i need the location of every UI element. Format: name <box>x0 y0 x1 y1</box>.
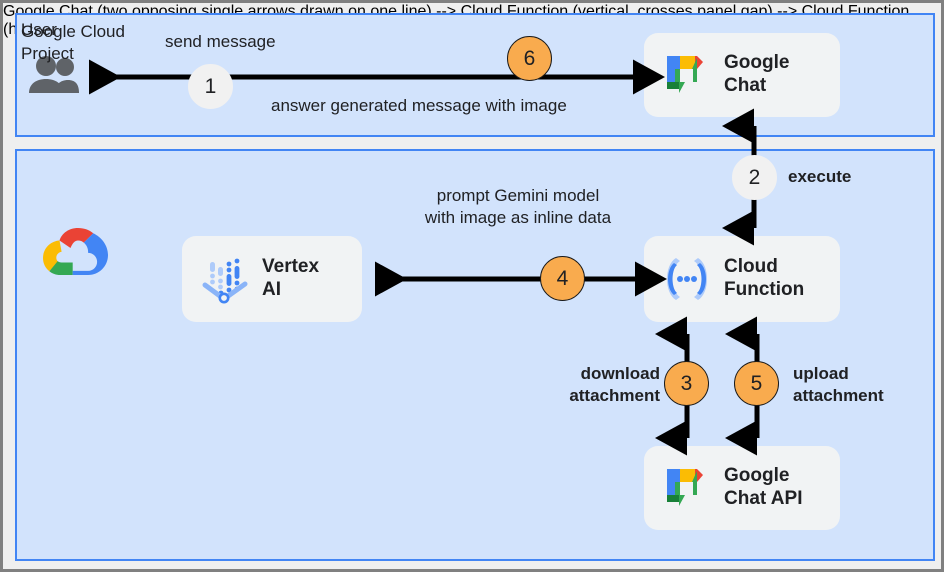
card-cloud-function-label: Cloud Function <box>724 256 804 302</box>
caption-answer-generated-message: answer generated message with image <box>271 95 567 117</box>
google-chat-logo-icon <box>660 48 714 102</box>
caption-answer-generated-message-emphasis: with image <box>486 96 567 115</box>
card-google-chat-api[interactable]: Google Chat API <box>644 446 840 530</box>
card-vertex-ai-label: Vertex AI <box>262 256 319 302</box>
caption-prompt-gemini-model-text: prompt Gemini model <box>411 185 625 207</box>
cloud-function-logo-icon <box>660 252 714 306</box>
step-badge-3: 3 <box>664 361 709 406</box>
step-badge-5: 5 <box>734 361 779 406</box>
card-cloud-function[interactable]: Cloud Function <box>644 236 840 322</box>
panel-google-cloud-project-label: Google Cloud Project <box>21 21 125 66</box>
step-badge-1: 1 <box>188 64 233 109</box>
caption-prompt-gemini-model-emphasis: with image as inline data <box>411 207 625 229</box>
caption-download-attachment: download attachment <box>528 363 660 407</box>
step-badge-2: 2 <box>732 155 777 200</box>
step-badge-4: 4 <box>540 256 585 301</box>
card-google-chat-label: Google Chat <box>724 52 789 98</box>
caption-execute: execute <box>788 166 851 188</box>
architecture-diagram: User Google Cloud Project <box>0 0 944 572</box>
step-badge-6: 6 <box>507 36 552 81</box>
caption-upload-attachment: upload attachment <box>793 363 884 407</box>
vertex-ai-logo-icon <box>198 252 252 306</box>
card-google-chat-api-label: Google Chat API <box>724 465 802 511</box>
caption-answer-generated-message-text: answer generated message <box>271 96 486 115</box>
arrow-user-google-chat <box>77 67 643 87</box>
caption-send-message: send message <box>165 31 276 53</box>
caption-prompt-gemini-model: prompt Gemini model with image as inline… <box>411 185 625 229</box>
google-cloud-logo-icon <box>39 225 109 281</box>
card-google-chat[interactable]: Google Chat <box>644 33 840 117</box>
google-chat-logo-icon <box>660 461 714 515</box>
card-vertex-ai[interactable]: Vertex AI <box>182 236 362 322</box>
arrow-vertex-ai-cloud-function <box>363 269 647 289</box>
